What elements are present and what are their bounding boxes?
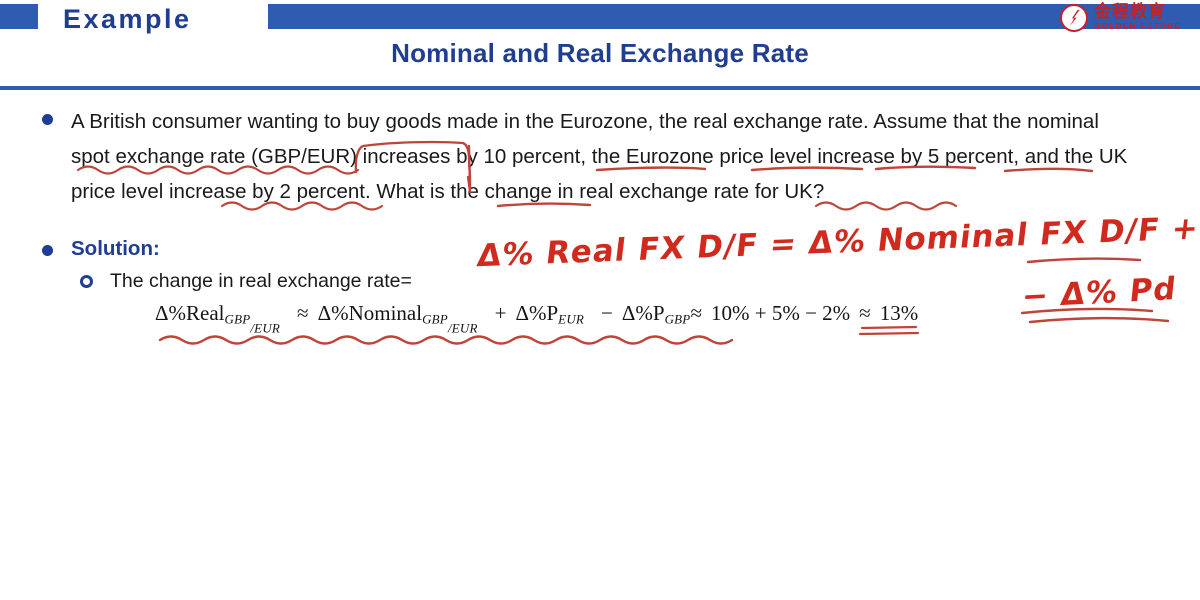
formula-rhs-symbol: Δ%Nominal [318,301,423,325]
question-text: A British consumer wanting to buy goods … [71,104,1132,209]
formula-minus-sign: − [601,301,613,325]
formula-lhs-subscript: GBP [224,311,250,326]
formula-approx-1: ≈ [297,301,309,325]
question-bullet: A British consumer wanting to buy goods … [42,104,1132,209]
sub-bullet-ring-icon [80,275,93,288]
header-kicker: Example [63,4,273,34]
formula-approx-3: ≈ [859,301,871,325]
lightning-circle-icon [1060,4,1088,32]
solution-bullet: Solution: [42,235,442,263]
slide-header: Example Nominal and Real Exchange Rate 金… [0,0,1200,88]
logo-chinese-text: 金程教育 [1094,2,1166,22]
formula-plus-sign: + [495,301,507,325]
formula-term-eur: Δ%P [515,301,558,325]
formula-result: 13% [880,301,919,325]
formula-approx-2: ≈ [690,301,702,325]
solution-label: Solution: [71,235,160,263]
logo-english-text: GOLDEN FUTURE [1094,22,1181,32]
page-title: Nominal and Real Exchange Rate [0,38,1200,69]
formula-lhs-denominator-text: EUR [254,320,280,335]
formula-rhs-denominator-text: EUR [452,320,478,335]
brand-logo: 金程教育 GOLDEN FUTURE [1060,2,1192,36]
formula-term-gbp: Δ%P [622,301,665,325]
formula-lhs-symbol: Δ%Real [155,301,224,325]
formula-equation: Δ%RealGBP/EUR≈Δ%NominalGBP/EUR+Δ%PEUR−Δ%… [155,300,918,341]
formula-rhs-subscript: GBP [422,311,448,326]
header-bar-left-segment [0,4,38,29]
slide-body: A British consumer wanting to buy goods … [0,92,1200,600]
solution-lead-text: The change in real exchange rate= [110,267,412,295]
formula-term-eur-subscript: EUR [558,311,584,326]
bullet-dot-icon [42,114,53,125]
bullet-dot-icon [42,245,53,256]
formula-term-gbp-subscript: GBP [665,311,691,326]
header-divider-rule [0,86,1200,90]
formula-numeric-expression: 10% + 5% − 2% [711,301,850,325]
solution-sub-bullet: The change in real exchange rate= [80,267,412,295]
slide: Example Nominal and Real Exchange Rate 金… [0,0,1200,600]
